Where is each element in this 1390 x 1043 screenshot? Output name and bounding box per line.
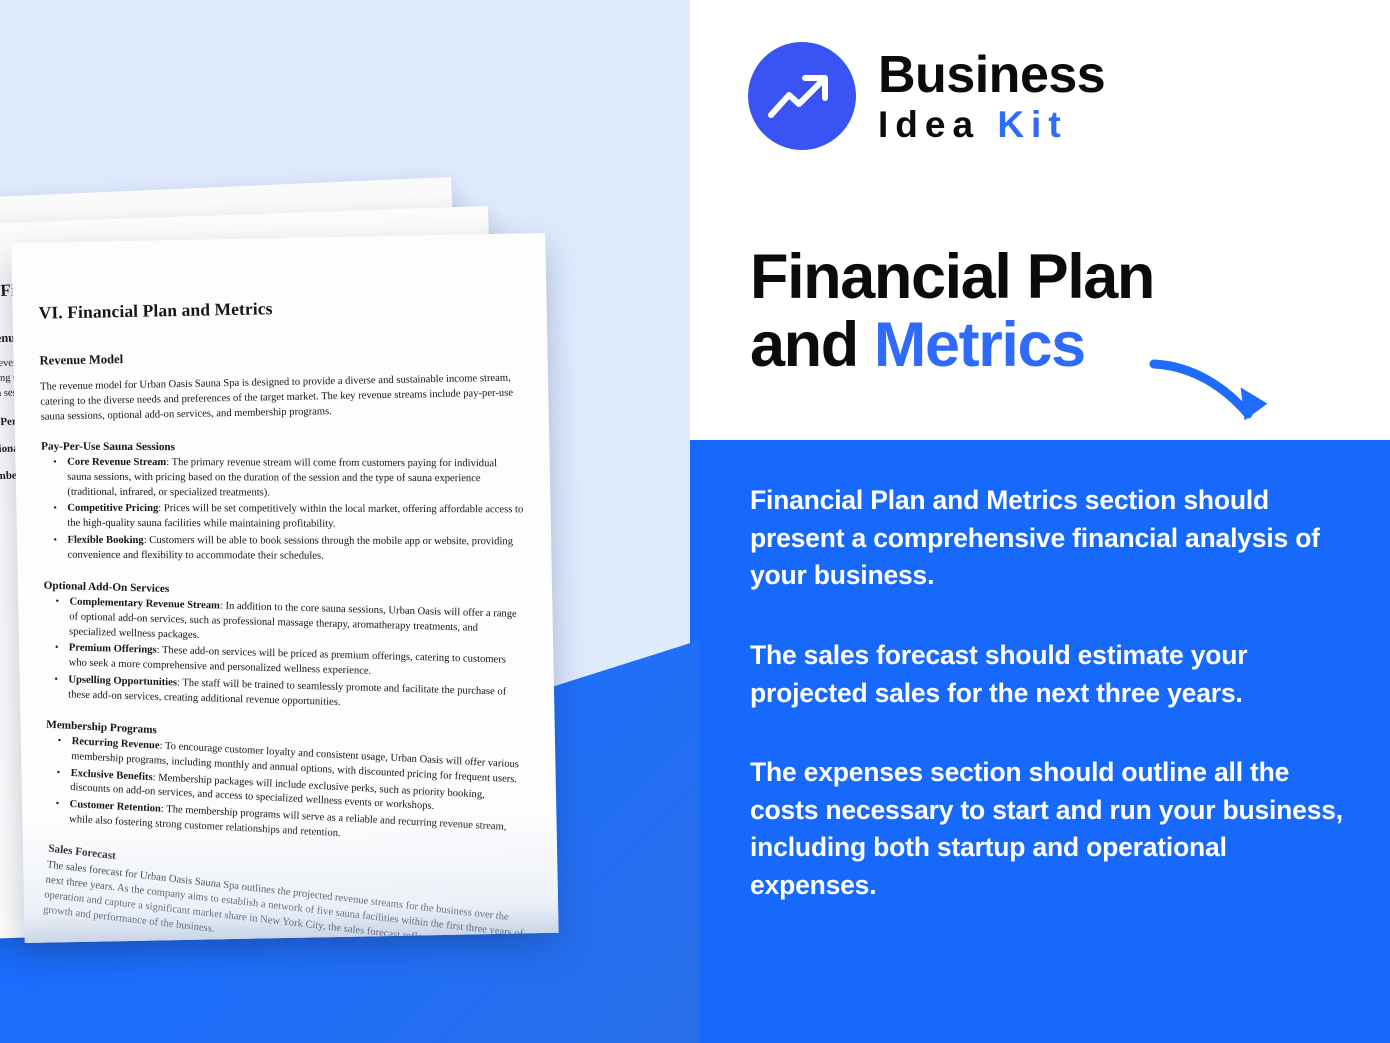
headline-line2-accent: Metrics	[874, 310, 1085, 380]
brand-name-line1: Business	[878, 49, 1105, 101]
brand-logo: Business Idea Kit	[748, 42, 1105, 150]
headline-line1: Financial Plan	[750, 242, 1154, 312]
description-text-block: Financial Plan and Metrics section shoul…	[750, 482, 1350, 905]
document-sheet-inner: VI. Financial Plan and Metrics Revenue M…	[11, 233, 558, 943]
description-paragraph-2: The sales forecast should estimate your …	[750, 637, 1350, 712]
group-heading: Pay-Per-Use Sauna Sessions	[41, 441, 523, 455]
curved-arrow-down-right-icon	[1148, 352, 1288, 442]
list-item: Flexible Booking: Customers will be able…	[67, 534, 523, 565]
brand-name-kit: Kit	[997, 104, 1067, 145]
brand-name-idea: Idea	[878, 104, 997, 145]
document-section-heading: Revenue Model	[39, 344, 521, 368]
document-page-front: VI. Financial Plan and Metrics Revenue M…	[11, 233, 558, 943]
slide-canvas: VI. Financial Plan and Metrics Revenue M…	[0, 0, 1390, 1043]
brand-wordmark: Business Idea Kit	[878, 49, 1105, 143]
document-body: VI. Financial Plan and Metrics Revenue M…	[38, 293, 532, 931]
document-group-sales-forecast: Sales Forecast The sales forecast for Ur…	[42, 842, 528, 943]
document-page-stack: VI. Financial Plan and Metrics Revenue M…	[0, 0, 720, 1043]
document-title: VI. Financial Plan and Metrics	[38, 293, 520, 323]
headline-line2-dark: and	[750, 310, 874, 380]
group-bullet-list: Complementary Revenue Stream: In additio…	[42, 595, 525, 716]
description-paragraph-1: Financial Plan and Metrics section shoul…	[750, 482, 1350, 595]
group-bullet-list: Core Revenue Stream: The primary revenue…	[41, 456, 523, 565]
document-group-pay-per-use: Pay-Per-Use Sauna Sessions Core Revenue …	[41, 441, 523, 565]
list-item: Competitive Pricing: Prices will be set …	[67, 502, 523, 533]
document-group-membership: Membership Programs Recurring Revenue: T…	[43, 718, 528, 851]
list-item: Core Revenue Stream: The primary revenue…	[67, 456, 523, 502]
description-paragraph-3: The expenses section should outline all …	[750, 754, 1350, 905]
growth-chart-arrow-icon	[748, 42, 856, 150]
brand-name-line2: Idea Kit	[878, 106, 1105, 143]
document-intro-paragraph: The revenue model for Urban Oasis Sauna …	[40, 370, 523, 424]
document-group-optional-add-on: Optional Add-On Services Complementary R…	[42, 580, 526, 716]
